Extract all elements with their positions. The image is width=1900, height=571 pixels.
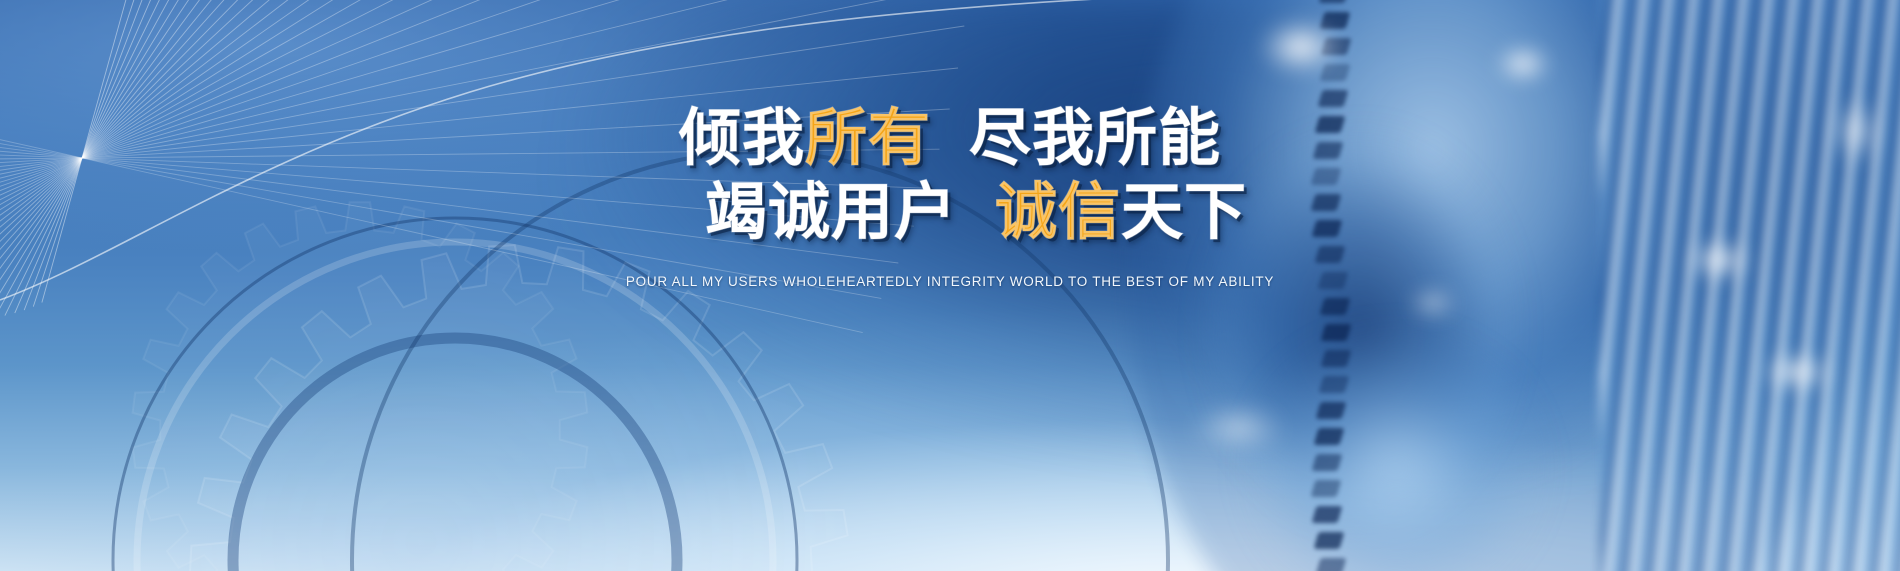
specular-highlight: [1258, 18, 1344, 76]
slogan-line-1: 倾我所有尽我所能: [0, 108, 1900, 170]
specular-highlight: [1494, 44, 1552, 84]
slogan-l1-seg1: 倾我: [679, 104, 805, 173]
slogan-block: 倾我所有尽我所能 竭诚用户诚信天下: [0, 108, 1900, 244]
slogan-line-2: 竭诚用户诚信天下: [52, 182, 1900, 244]
slogan-l2-seg2: 诚信: [995, 178, 1121, 247]
slogan-subtitle: POUR ALL MY USERS WHOLEHEARTEDLY INTEGRI…: [0, 274, 1900, 289]
specular-highlight: [1760, 352, 1834, 392]
slogan-l2-seg1: 竭诚用户: [705, 178, 957, 247]
specular-highlight: [1408, 286, 1458, 320]
slogan-l1-seg2: 所有: [805, 104, 931, 173]
slogan-l1-seg3: 尽我所能: [969, 104, 1221, 173]
hero-banner: 倾我所有尽我所能 竭诚用户诚信天下 POUR ALL MY USERS WHOL…: [0, 0, 1900, 571]
specular-highlight: [1190, 402, 1286, 454]
slogan-l2-seg3: 天下: [1121, 178, 1247, 247]
